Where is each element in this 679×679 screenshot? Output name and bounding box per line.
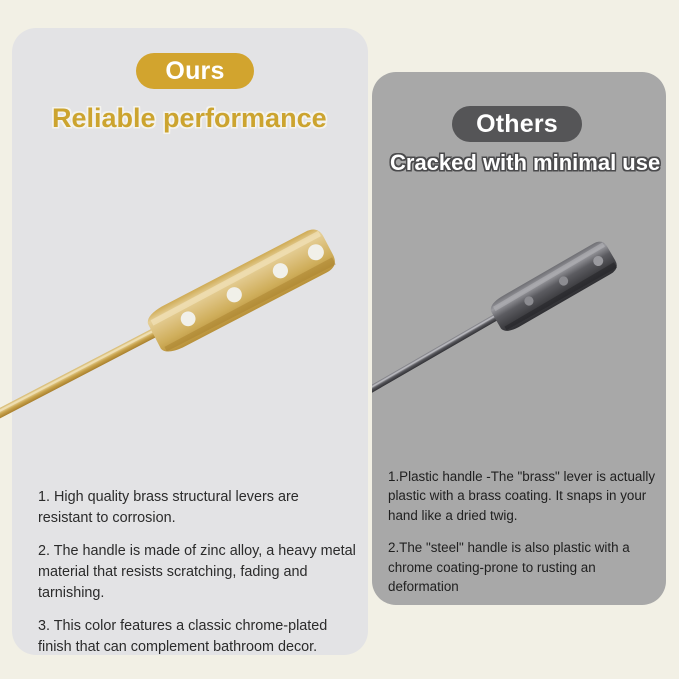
ours-badge: Ours — [136, 53, 254, 89]
others-feature-item: 1.Plastic handle -The "brass" lever is a… — [388, 467, 660, 525]
others-feature-list: 1.Plastic handle -The "brass" lever is a… — [388, 467, 660, 610]
ours-feature-list: 1. High quality brass structural levers … — [38, 487, 356, 658]
ours-subheading: Reliable performance — [52, 103, 327, 134]
ours-feature-item: 2. The handle is made of zinc alloy, a h… — [38, 541, 356, 604]
brass-lever-photo — [0, 190, 368, 480]
others-subheading: Cracked with minimal use — [390, 150, 660, 176]
others-feature-item: 2.The "steel" handle is also plastic wit… — [388, 538, 660, 596]
ours-feature-item: 3. This color features a classic chrome-… — [38, 616, 356, 658]
others-badge: Others — [452, 106, 582, 142]
comparison-stage: Ours Others Reliable performance Cracked… — [0, 0, 679, 679]
ours-feature-item: 1. High quality brass structural levers … — [38, 487, 356, 529]
steel-lever-photo — [372, 185, 666, 435]
